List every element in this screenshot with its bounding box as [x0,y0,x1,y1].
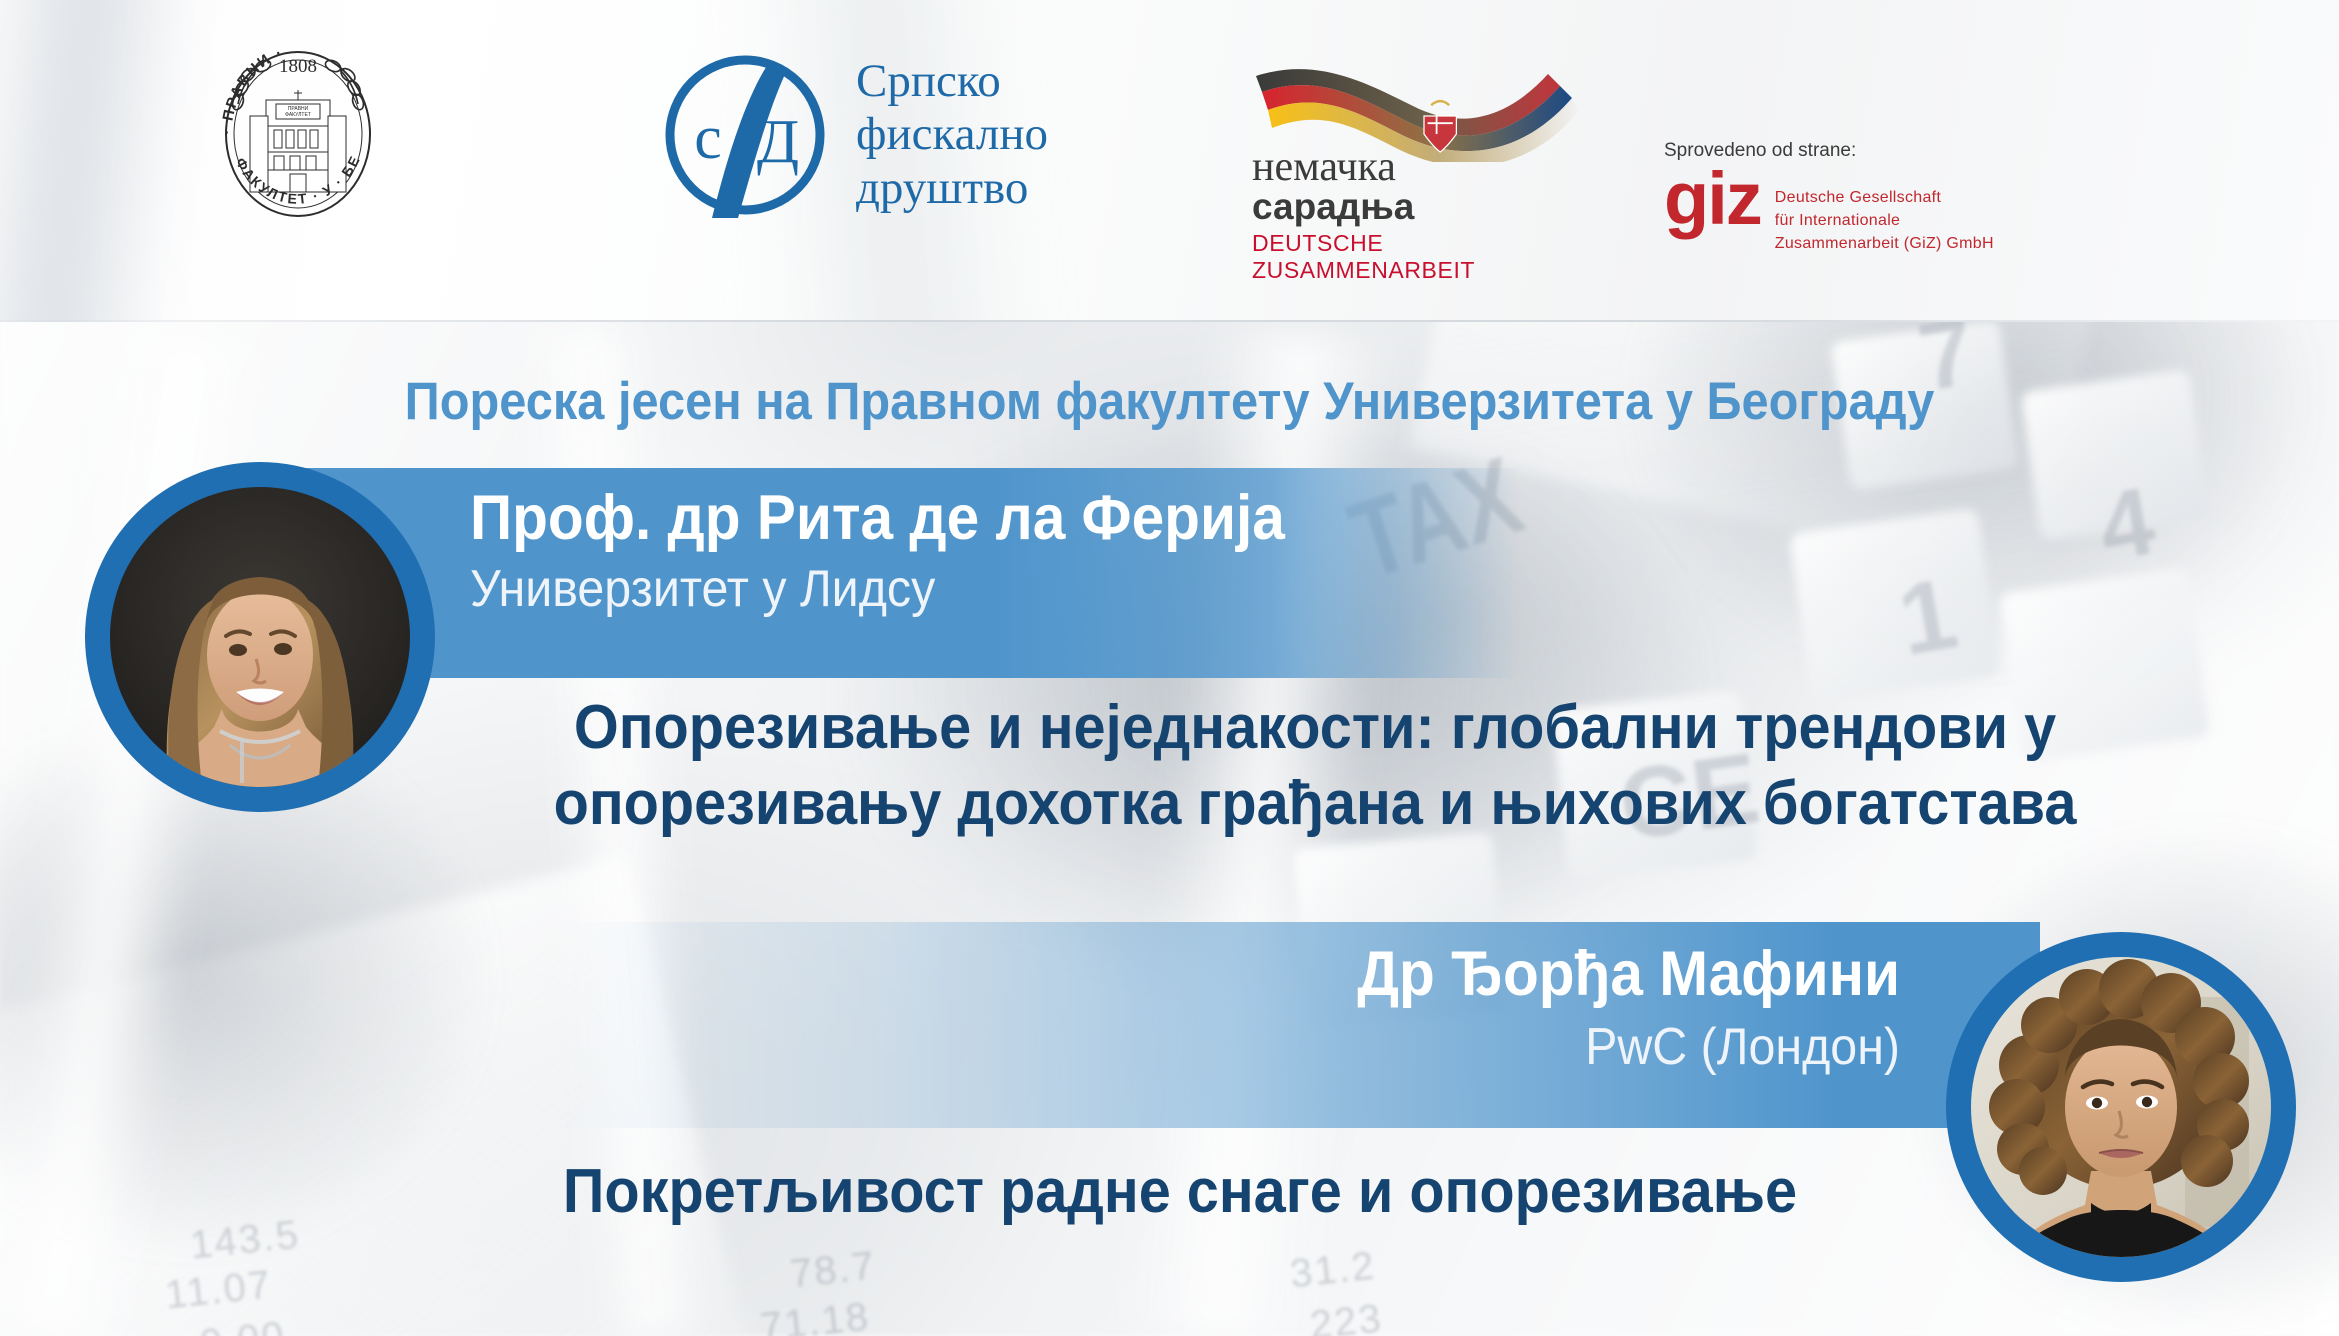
background-number: 78.7 [788,1244,878,1298]
header-divider [0,320,2339,322]
speaker-2-affiliation: PwC (Лондон) [970,1018,1900,1076]
sfd-line-1: Српско [856,55,1048,109]
speaker-1-lecture-line-1: Опорезивање и неједнакости: глобални тре… [515,690,2115,766]
speaker-1-avatar [110,487,410,787]
sfd-line-2: фискално [856,108,1048,162]
speaker-2-info: Др Ђорђа Мафини PwC (Лондон) [900,940,1900,1076]
speaker-1-info: Проф. др Рита де ла Ферија Универзитет у… [470,484,1530,618]
sfd-monogram-icon: с Д [660,50,830,220]
faculty-seal-logo: 1808 [198,30,398,230]
sfd-logo: с Д Српско фискално друштво [660,50,1048,220]
speaker-1-name: Проф. др Рита де ла Ферија [470,484,1456,552]
series-title: Пореска јесен на Правном факултету Униве… [94,371,2246,432]
background-number: 223 [1308,1296,1385,1336]
giz-desc-line-3: Zusammenarbeit (GiZ) GmbH [1775,232,1994,255]
speaker-1-lecture-title: Опорезивање и неједнакости: глобални тре… [515,690,2115,841]
speaker-2-name: Др Ђорђа Мафини [970,940,1900,1008]
sfd-wordmark: Српско фискално друштво [856,55,1048,216]
event-poster: TAX 7 4 1 CE 143.5 11.07 0.00 78.7 71.18… [0,0,2339,1336]
svg-text:Д: Д [757,108,799,176]
giz-wordmark: giz [1664,172,1761,225]
speaker-1-affiliation: Универзитет у Лидсу [470,560,1456,618]
svg-text:с: с [694,104,722,172]
giz-description: Deutsche Gesellschaft für Internationale… [1775,178,1994,256]
speaker-2-avatar [1971,957,2271,1257]
giz-desc-line-1: Deutsche Gesellschaft [1775,186,1994,209]
coop-line-3: DEUTSCHE ZUSAMMENARBEIT [1252,230,1578,285]
header-sheen [0,0,203,322]
german-cooperation-logo: немачка сарадња DEUTSCHE ZUSAMMENARBEIT [1248,42,1578,285]
speaker-2-lecture-line-1: Покретљивост радне снаге и опорезивање [362,1155,1999,1229]
svg-text:ФАКУЛТЕТ: ФАКУЛТЕТ [285,112,311,118]
background-key [1789,508,2001,703]
giz-logo: Sprovedeno od strane: giz Deutsche Gesel… [1664,140,1994,256]
speaker-2-lecture-title: Покретљивост радне снаге и опорезивање [362,1155,1999,1229]
background-number: 31.2 [1288,1244,1378,1298]
coop-line-2: сарадња [1252,188,1578,227]
giz-desc-line-2: für Internationale [1775,209,1994,232]
logo-header: 1808 [0,0,2339,322]
speaker-1-lecture-line-2: опорезивању дохотка грађана и њихових бо… [515,766,2115,842]
sfd-line-3: друштво [856,162,1048,216]
